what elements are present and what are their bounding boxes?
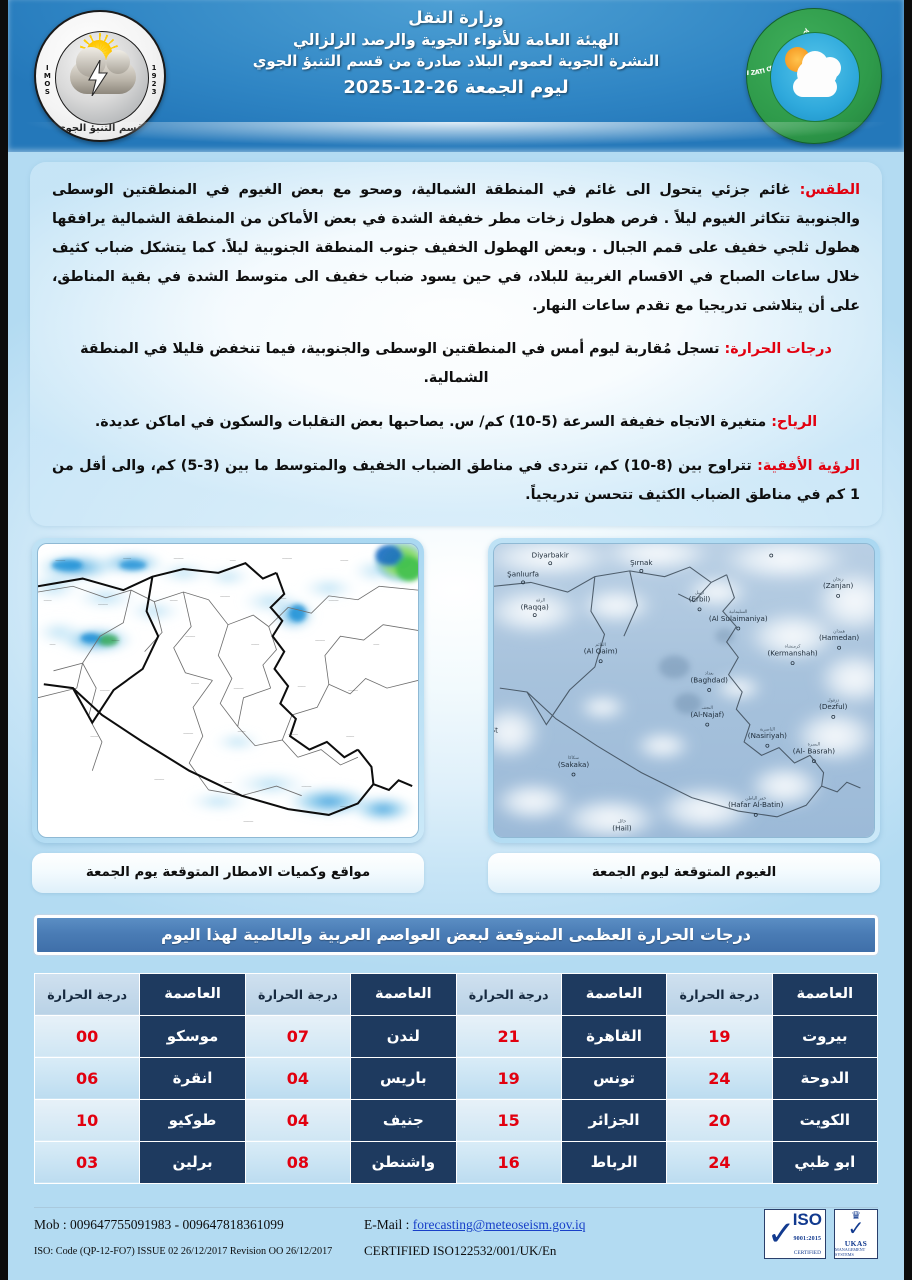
temp-cell: 03	[35, 1141, 140, 1183]
svg-text:(Baghdad): (Baghdad)	[690, 675, 728, 684]
svg-text:___: ___	[49, 640, 56, 645]
table-row: الكويت 20 الجزائر 15 جنيف 04 طوكيو 10	[35, 1099, 878, 1141]
rain-map-caption: مواقع وكميات الامطار المتوقعة يوم الجمعة	[32, 853, 424, 893]
svg-text:كرمنشاه: كرمنشاه	[785, 644, 802, 650]
rain-map-svg: _________ ________ _________ _________ _…	[38, 544, 418, 837]
logo-inner-disc	[770, 32, 860, 122]
iso-badge-standard: 9001:2015	[793, 1236, 821, 1242]
header-capital-2: العاصمة	[561, 973, 666, 1015]
svg-text:____: ____	[43, 595, 52, 600]
svg-text:(Hamedan): (Hamedan)	[819, 633, 859, 642]
temperature-table-banner: درجات الحرارة العظمى المتوقعة لبعض العوا…	[34, 915, 878, 955]
svg-text:(Kermanshah): (Kermanshah)	[767, 648, 817, 657]
svg-text:____: ____	[190, 678, 199, 683]
svg-text:_____: _____	[184, 632, 195, 637]
svg-text:____: ____	[277, 594, 286, 599]
capital-cell: موسكو	[140, 1015, 245, 1057]
capital-cell: جنيف	[351, 1099, 456, 1141]
table-body: بيروت 19 القاهرة 21 لندن 07 موسكو 00 الد…	[35, 1015, 878, 1183]
capital-cell: لندن	[351, 1015, 456, 1057]
svg-text:____: ____	[223, 778, 232, 783]
svg-text:(Erbil): (Erbil)	[689, 594, 711, 603]
svg-text:____: ____	[297, 682, 306, 687]
capital-cell: تونس	[561, 1057, 666, 1099]
capital-cell: برلين	[140, 1141, 245, 1183]
header-temp-2: درجة الحرارة	[456, 973, 561, 1015]
capital-cell: القاهرة	[561, 1015, 666, 1057]
svg-text:بغداد: بغداد	[705, 671, 714, 676]
capital-cell: الدوحة	[772, 1057, 877, 1099]
svg-text:_____: _____	[233, 684, 244, 689]
table-row: بيروت 19 القاهرة 21 لندن 07 موسكو 00	[35, 1015, 878, 1057]
table-head: العاصمة درجة الحرارة العاصمة درجة الحرار…	[35, 973, 878, 1015]
svg-text:_____: _____	[153, 774, 164, 779]
svg-text:(Hafar Al-Batin): (Hafar Al-Batin)	[728, 800, 784, 809]
svg-text:_____: _____	[281, 553, 292, 558]
svg-text:الرقة: الرقة	[536, 598, 546, 603]
svg-text:(Sakaka): (Sakaka)	[558, 760, 590, 769]
temp-cell: 21	[456, 1015, 561, 1057]
temp-cell: 24	[667, 1141, 772, 1183]
svg-text:الناصرية: الناصرية	[760, 727, 775, 732]
capital-cell: الجزائر	[561, 1099, 666, 1141]
svg-text:_____: _____	[219, 592, 230, 597]
header-temp-1: درجة الحرارة	[667, 973, 772, 1015]
svg-text:____: ____	[111, 636, 120, 641]
temp-cell: 20	[667, 1099, 772, 1141]
svg-text:_____: _____	[173, 553, 184, 558]
svg-text:(Zanjan): (Zanjan)	[823, 581, 854, 590]
temp-cell: 08	[245, 1141, 350, 1183]
rain-map-frame: _________ ________ _________ _________ _…	[32, 538, 424, 843]
svg-text:____: ____	[339, 555, 348, 560]
svg-text:_____: _____	[182, 728, 193, 733]
svg-text:_____: _____	[97, 599, 108, 604]
svg-text:سكاكا: سكاكا	[568, 755, 579, 761]
visibility-label: الرؤية الأفقية:	[757, 458, 860, 474]
svg-text:(Al Sulaimaniya): (Al Sulaimaniya)	[709, 614, 768, 623]
capital-cell: ابو ظبي	[772, 1141, 877, 1183]
capital-cell: انقرة	[140, 1057, 245, 1099]
svg-text:____: ____	[250, 640, 259, 645]
email-link[interactable]: forecasting@meteoseism.gov.iq	[413, 1217, 586, 1232]
cloud-map-svg: Diyarbakir Şırnak Şanlıurfa (Zanjan) (Ra…	[494, 544, 874, 837]
svg-text:(Al- Basrah): (Al- Basrah)	[793, 746, 835, 755]
svg-text:(Dezful): (Dezful)	[819, 702, 848, 711]
svg-text:(Al Qaim): (Al Qaim)	[584, 646, 618, 655]
capital-cell: بيروت	[772, 1015, 877, 1057]
header-capital-4: العاصمة	[140, 973, 245, 1015]
svg-text:_____: _____	[99, 686, 110, 691]
page-header: WEATHER FORECASTING DEPT. IMOS 1923 قسم …	[8, 0, 904, 152]
svg-text:_____: _____	[347, 686, 358, 691]
table-row: الدوحة 24 تونس 19 باريس 04 انقرة 06	[35, 1057, 878, 1099]
temp-cell: 00	[35, 1015, 140, 1057]
svg-text:Şanlıurfa: Şanlıurfa	[507, 569, 539, 578]
svg-text:حفر الباطن: حفر الباطن	[745, 796, 766, 801]
checkmark-icon: ✓	[848, 1219, 865, 1240]
temp-cell: 16	[456, 1141, 561, 1183]
svg-text:Şırnak: Şırnak	[630, 558, 653, 567]
wind-paragraph: الرياح: متغيرة الاتجاه خفيفة السرعة (5-1…	[52, 408, 860, 437]
temp-cell: 15	[456, 1099, 561, 1141]
visibility-body: تتراوح بين (8-10) كم، تتردى في مناطق الض…	[52, 458, 860, 503]
header-temp-3: درجة الحرارة	[245, 973, 350, 1015]
cloud-map-column: Diyarbakir Şırnak Şanlıurfa (Zanjan) (Ra…	[488, 538, 880, 893]
logo-arabic-label: قسم التنبؤ الجوي	[36, 123, 164, 134]
svg-text:اربيل: اربيل	[695, 591, 704, 596]
temp-cell: 06	[35, 1057, 140, 1099]
header-capital-3: العاصمة	[351, 973, 456, 1015]
temp-cell: 04	[245, 1099, 350, 1141]
weather-paragraph: الطقس: غائم جزئي يتحول الى غائم في المنط…	[52, 176, 860, 320]
email-label: E-Mail :	[364, 1217, 409, 1232]
svg-text:____: ____	[122, 553, 131, 558]
temp-cell: 10	[35, 1099, 140, 1141]
svg-text:البصرة: البصرة	[808, 743, 821, 748]
svg-text:_____: _____	[287, 730, 298, 735]
cloud-map-frame: Diyarbakir Şırnak Şanlıurfa (Zanjan) (Ra…	[488, 538, 880, 843]
capital-cell: باريس	[351, 1057, 456, 1099]
temperature-paragraph: درجات الحرارة: تسجل مُقاربة ليوم أمس في …	[52, 335, 860, 393]
capital-cell: الكويت	[772, 1099, 877, 1141]
cloud-map-caption: الغيوم المتوقعة ليوم الجمعة	[488, 853, 880, 893]
certified-text: CERTIFIED ISO122532/001/UK/En	[364, 1243, 556, 1259]
svg-text:___: ___	[229, 555, 236, 560]
svg-text:السليمانية: السليمانية	[729, 610, 747, 615]
temp-cell: 24	[667, 1057, 772, 1099]
email-block: E-Mail : forecasting@meteoseism.gov.iq	[364, 1217, 586, 1233]
capital-cell: طوكيو	[140, 1099, 245, 1141]
svg-text:(Nasiriyah): (Nasiriyah)	[748, 731, 787, 740]
visibility-paragraph: الرؤية الأفقية: تتراوح بين (8-10) كم، تت…	[52, 452, 860, 510]
header-capital-1: العاصمة	[772, 973, 877, 1015]
svg-text:____: ____	[237, 726, 246, 731]
temp-cell: 07	[245, 1015, 350, 1057]
svg-text:St): St)	[494, 725, 498, 734]
forecast-text-panel: الطقس: غائم جزئي يتحول الى غائم في المنط…	[30, 162, 882, 526]
weather-label: الطقس:	[800, 182, 860, 198]
temperature-body: تسجل مُقاربة ليوم أمس في المنطقتين الوسط…	[80, 341, 719, 386]
footer-iso-row: ISO: Code (QP-12-FO7) ISSUE 02 26/12/201…	[34, 1242, 878, 1260]
svg-text:_____: _____	[242, 816, 253, 821]
svg-text:(Hail): (Hail)	[612, 823, 632, 832]
svg-text:____: ____	[89, 732, 98, 737]
rain-map-image[interactable]: _________ ________ _________ _________ _…	[37, 543, 419, 838]
temperature-table-section: درجات الحرارة العظمى المتوقعة لبعض العوا…	[34, 915, 878, 1184]
svg-text:القائم: القائم	[595, 643, 605, 648]
weather-bulletin-poster: WEATHER FORECASTING DEPT. IMOS 1923 قسم …	[8, 0, 904, 1280]
svg-text:(Al-Najaf): (Al-Najaf)	[690, 710, 724, 719]
page-footer: Mob : 009647755091983 - 009647818361099 …	[34, 1207, 878, 1260]
weather-body: غائم جزئي يتحول الى غائم في المنطقة الشم…	[52, 182, 860, 314]
maps-row: _________ ________ _________ _________ _…	[32, 538, 880, 893]
wind-label: الرياح:	[771, 414, 817, 430]
capitals-temperature-table: العاصمة درجة الحرارة العاصمة درجة الحرار…	[34, 973, 878, 1184]
svg-text:النجف: النجف	[702, 706, 713, 711]
table-row: ابو ظبي 24 الرباط 16 واشنطن 08 برلين 03	[35, 1141, 878, 1183]
table-header-row: العاصمة درجة الحرارة العاصمة درجة الحرار…	[35, 973, 878, 1015]
temp-cell: 19	[667, 1015, 772, 1057]
svg-text:_____: _____	[328, 595, 339, 600]
svg-text:____: ____	[345, 732, 354, 737]
svg-text:همدان: همدان	[833, 629, 845, 634]
mobile-numbers: Mob : 009647755091983 - 009647818361099	[34, 1217, 364, 1233]
svg-text:Diyarbakir: Diyarbakir	[532, 550, 569, 559]
svg-text:(Raqqa): (Raqqa)	[521, 602, 549, 611]
temperature-label: درجات الحرارة:	[725, 341, 832, 357]
cloud-map-image[interactable]: Diyarbakir Şırnak Şanlıurfa (Zanjan) (Ra…	[493, 543, 875, 838]
footer-contact-row: Mob : 009647755091983 - 009647818361099 …	[34, 1215, 878, 1235]
svg-text:_____: _____	[54, 555, 65, 560]
svg-text:____: ____	[339, 801, 348, 806]
temp-cell: 19	[456, 1057, 561, 1099]
svg-text:دزفول: دزفول	[827, 698, 839, 703]
svg-text:_____: _____	[301, 782, 312, 787]
iso-badge-title: ISO	[793, 1210, 822, 1229]
svg-text:زنجان: زنجان	[833, 577, 844, 582]
cloud-base-icon	[793, 77, 837, 97]
svg-text:_____: _____	[314, 636, 325, 641]
capital-cell: الرباط	[561, 1141, 666, 1183]
svg-text:____: ____	[169, 595, 178, 600]
header-temp-4: درجة الحرارة	[35, 973, 140, 1015]
temp-cell: 04	[245, 1057, 350, 1099]
iso-code-text: ISO: Code (QP-12-FO7) ISSUE 02 26/12/201…	[34, 1246, 364, 1257]
rain-map-column: _________ ________ _________ _________ _…	[32, 538, 424, 893]
wind-body: متغيرة الاتجاه خفيفة السرعة (5-10) كم/ س…	[95, 414, 766, 430]
iraq-met-org-logo: YGOLOMSIES & NOITAZINAGRO LACIGOLOROETEM…	[746, 8, 882, 144]
svg-text:___: ___	[372, 640, 379, 645]
capital-cell: واشنطن	[351, 1141, 456, 1183]
svg-text:حائل: حائل	[618, 819, 627, 824]
